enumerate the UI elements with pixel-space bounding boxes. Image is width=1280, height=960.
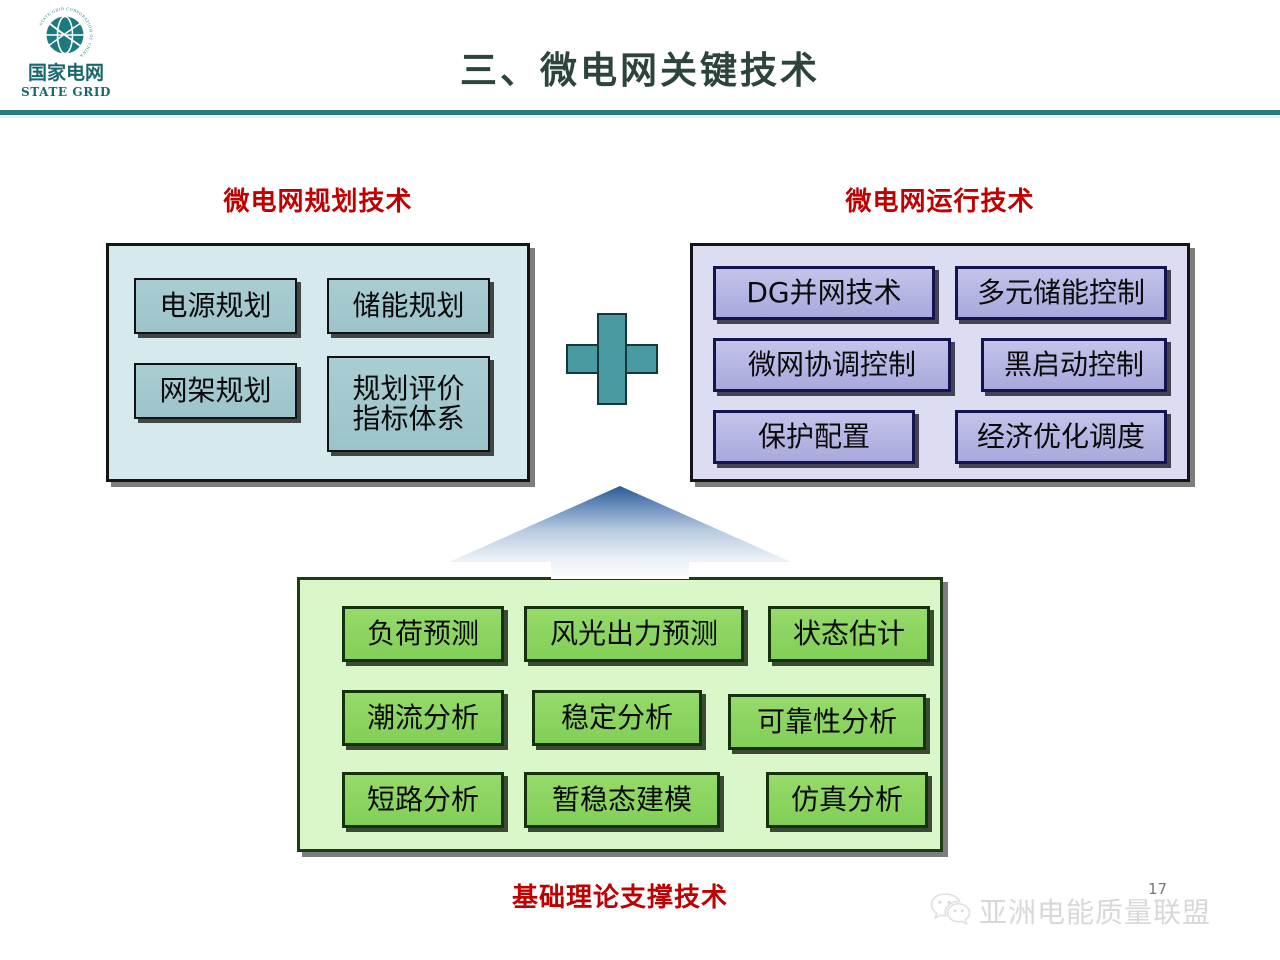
panel-operation: DG并网技术 多元储能控制 微网协调控制 黑启动控制 保护配置 经济优化调度 [690,243,1190,482]
slide-canvas: STATE GRID CORPORATION OF CHINA 国家电网 STA… [0,0,1280,960]
chip-operation-0[interactable]: DG并网技术 [713,266,935,320]
chip-operation-1[interactable]: 多元储能控制 [955,266,1167,320]
chip-theory-1[interactable]: 风光出力预测 [524,606,744,662]
chip-theory-7[interactable]: 暂稳态建模 [524,772,720,828]
watermark: 亚洲电能质量联盟 [930,888,1250,934]
chip-theory-8[interactable]: 仿真分析 [766,772,928,828]
page-number: 17 [1148,880,1167,898]
chip-theory-2[interactable]: 状态估计 [768,606,930,662]
chip-planning-2[interactable]: 网架规划 [134,363,297,419]
chip-planning-0[interactable]: 电源规划 [134,278,297,334]
chip-planning-3-line-1: 指标体系 [352,404,464,434]
panel-planning: 电源规划 储能规划 网架规划 规划评价 指标体系 [106,243,530,482]
caption-theory: 基础理论支撑技术 [297,877,943,914]
header-accent-rule-soft [0,115,1280,118]
chip-planning-3[interactable]: 规划评价 指标体系 [327,356,490,452]
chip-operation-2[interactable]: 微网协调控制 [713,338,951,392]
wechat-icon [930,892,970,930]
chip-planning-3-line-0: 规划评价 [352,374,464,404]
caption-operation: 微电网运行技术 [690,181,1190,218]
chip-theory-6[interactable]: 短路分析 [342,772,504,828]
watermark-text: 亚洲电能质量联盟 [979,891,1211,931]
arrow-up-icon [447,484,793,579]
chip-theory-0[interactable]: 负荷预测 [342,606,504,662]
chip-planning-1[interactable]: 储能规划 [327,278,490,334]
chip-theory-4[interactable]: 稳定分析 [532,690,702,746]
plus-icon-bar-vertical [597,313,627,405]
chip-planning-3-lines: 规划评价 指标体系 [352,374,464,434]
chip-operation-5[interactable]: 经济优化调度 [955,410,1167,464]
panel-theory: 负荷预测 风光出力预测 状态估计 潮流分析 稳定分析 可靠性分析 短路分析 暂稳… [297,577,943,852]
plus-icon [566,313,658,405]
page-title: 三、微电网关键技术 [0,40,1280,94]
chip-operation-3[interactable]: 黑启动控制 [981,338,1167,392]
caption-planning: 微电网规划技术 [106,181,530,218]
chip-theory-5[interactable]: 可靠性分析 [728,694,926,750]
chip-operation-4[interactable]: 保护配置 [713,410,915,464]
chip-theory-3[interactable]: 潮流分析 [342,690,504,746]
